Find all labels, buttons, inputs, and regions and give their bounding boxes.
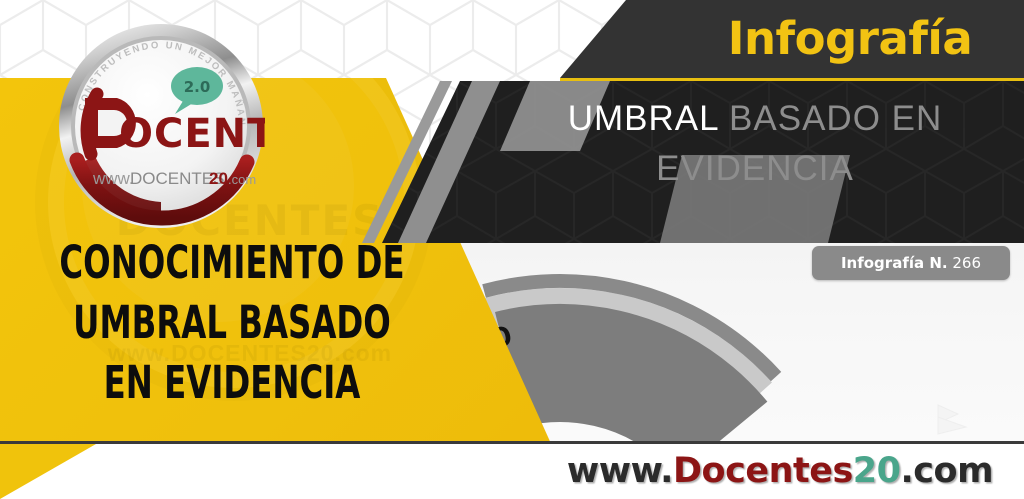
logo-url-number: 20 bbox=[209, 169, 228, 188]
logo-url-www: www. bbox=[92, 169, 134, 188]
logo-bubble-text: 2.0 bbox=[184, 78, 211, 96]
footer-website-url[interactable]: www.Docentes20.com bbox=[560, 448, 1000, 494]
header-accent-line bbox=[560, 78, 1024, 81]
header-badge-label: Infografía bbox=[690, 6, 1010, 72]
subject-title-rest: BASADO EN bbox=[718, 99, 942, 138]
footer-url-www: www. bbox=[567, 451, 673, 491]
infographic-banner: PROBLEMÁTICO Causa dificul bbox=[0, 0, 1024, 499]
hero-title-line-2: UMBRAL BASADO bbox=[51, 293, 413, 353]
subject-title: UMBRAL BASADO EN EVIDENCIA bbox=[500, 94, 1010, 194]
subject-title-line2: EVIDENCIA bbox=[656, 149, 854, 188]
footer-url-tld: .com bbox=[901, 451, 994, 491]
hero-title-line-3: EN EVIDENCIA bbox=[51, 353, 413, 413]
footer-url-name: Docentes bbox=[673, 451, 853, 491]
hero-title-line-1: CONOCIMIENTO DE bbox=[51, 233, 413, 293]
infographic-number-badge: Infografía N. 266 bbox=[812, 246, 1010, 280]
subject-title-highlight: UMBRAL bbox=[568, 99, 719, 138]
chevron-right-icon bbox=[936, 403, 996, 437]
docentes-logo[interactable]: CONSTRUYENDO UN MEJOR MAÑANA OCENTES 2.0… bbox=[57, 22, 265, 230]
hero-title: CONOCIMIENTO DE UMBRAL BASADO EN EVIDENC… bbox=[51, 233, 413, 413]
infographic-number-label: Infografía N. bbox=[841, 254, 948, 272]
logo-wordmark-text: OCENTES bbox=[119, 111, 265, 157]
infographic-number-value: 266 bbox=[952, 254, 981, 272]
logo-url-tld: .com bbox=[228, 172, 256, 187]
footer-url-number: 20 bbox=[853, 451, 901, 491]
